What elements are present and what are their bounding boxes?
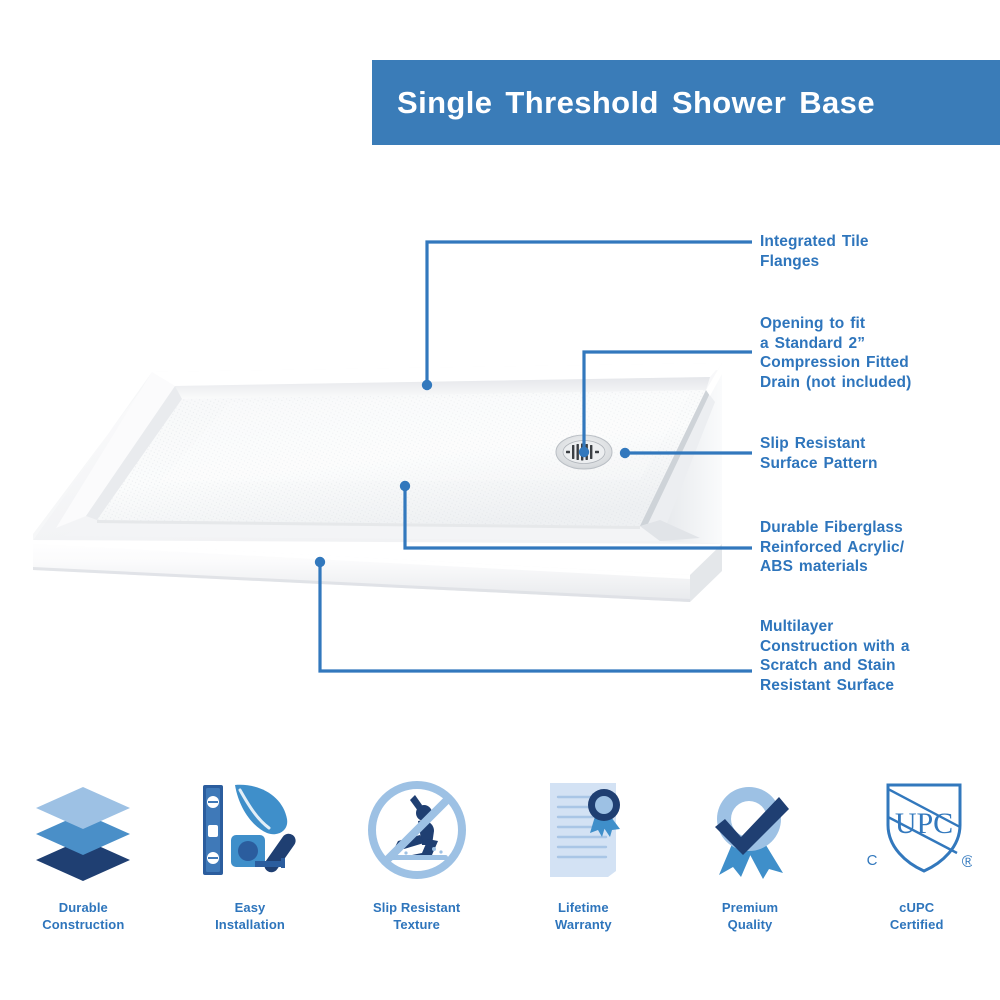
- page-title: Single Threshold Shower Base: [372, 85, 875, 121]
- cupc-shield-icon: UPC C ®: [862, 775, 972, 885]
- callout-multilayer-construction: Multilayer Construction with a Scratch a…: [760, 617, 910, 695]
- level-trowel-icon: [195, 775, 305, 885]
- feature-premium-quality: Premium Quality: [667, 775, 834, 975]
- certificate-icon: [528, 775, 638, 885]
- shield-text: UPC: [895, 807, 953, 840]
- feature-cupc-certified: UPC C ® cUPC Certified: [833, 775, 1000, 975]
- feature-label: Durable Construction: [42, 899, 124, 933]
- callout-durable-fiberglass-materials: Durable Fiberglass Reinforced Acrylic/ A…: [760, 518, 904, 577]
- feature-easy-installation: Easy Installation: [167, 775, 334, 975]
- callout-integrated-tile-flanges: Integrated Tile Flanges: [760, 232, 869, 271]
- base-right-face: [690, 544, 722, 602]
- feature-slip-resistant-texture: Slip Resistant Texture: [333, 775, 500, 975]
- no-slip-icon: [362, 775, 472, 885]
- feature-label: cUPC Certified: [890, 899, 944, 933]
- shield-left-mark: C: [866, 852, 877, 869]
- title-banner: Single Threshold Shower Base: [372, 60, 1000, 145]
- shield-right-mark: ®: [961, 852, 971, 871]
- feature-label: Premium Quality: [722, 899, 778, 933]
- feature-label: Easy Installation: [215, 899, 285, 933]
- base-front-face: [33, 540, 690, 602]
- feature-lifetime-warranty: Lifetime Warranty: [500, 775, 667, 975]
- drain-grate: [556, 435, 612, 469]
- feature-label: Slip Resistant Texture: [373, 899, 460, 933]
- callout-slip-resistant-surface: Slip Resistant Surface Pattern: [760, 434, 878, 473]
- layers-icon: [28, 775, 138, 885]
- product-illustration: [0, 330, 780, 620]
- quality-ribbon-icon: [695, 775, 805, 885]
- feature-durable-construction: Durable Construction: [0, 775, 167, 975]
- callout-drain-opening: Opening to fit a Standard 2” Compression…: [760, 314, 911, 392]
- feature-badges-row: Durable Construction: [0, 775, 1000, 975]
- feature-label: Lifetime Warranty: [555, 899, 612, 933]
- basin-floor: [97, 390, 706, 526]
